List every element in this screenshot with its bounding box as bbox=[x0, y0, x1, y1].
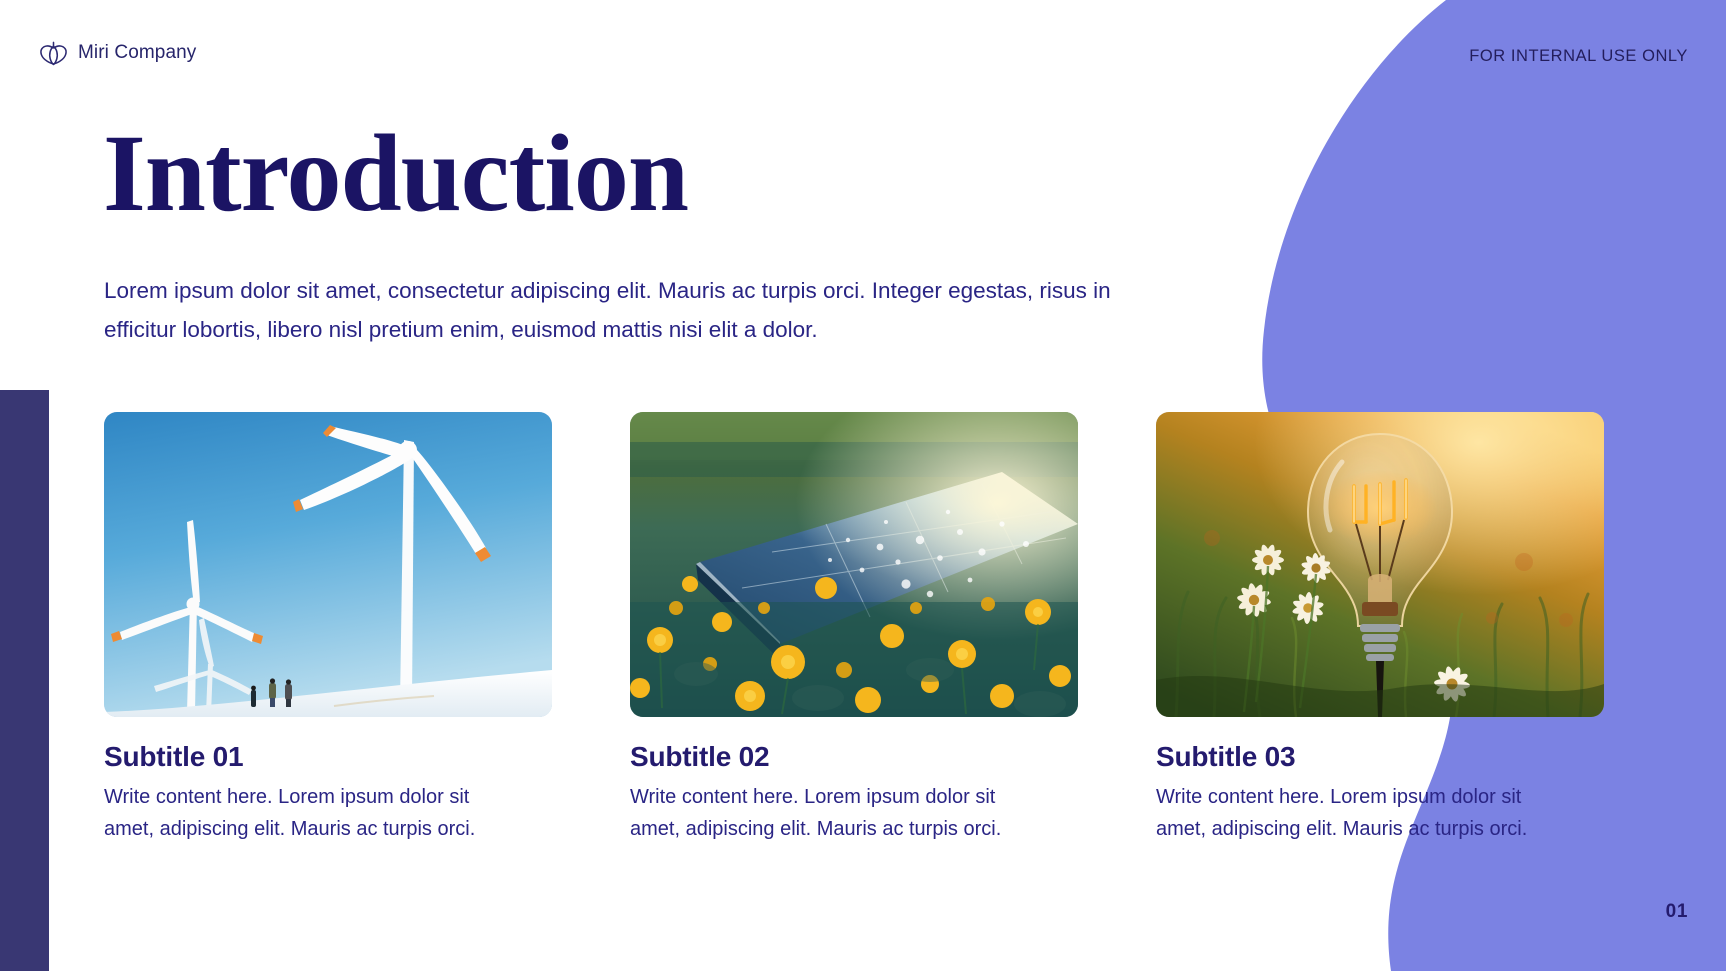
card-title: Subtitle 02 bbox=[630, 741, 1078, 773]
lotus-flower-icon bbox=[38, 38, 69, 68]
page-number: 01 bbox=[1666, 901, 1688, 923]
presentation-slide: Miri Company FOR INTERNAL USE ONLY Intro… bbox=[0, 0, 1726, 971]
brand-name-label: Miri Company bbox=[78, 42, 196, 64]
intro-paragraph: Lorem ipsum dolor sit amet, consectetur … bbox=[104, 272, 1124, 349]
content-card-row: Subtitle 01 Write content here. Lorem ip… bbox=[104, 412, 1624, 845]
content-card[interactable]: Subtitle 03 Write content here. Lorem ip… bbox=[1156, 412, 1604, 845]
content-card[interactable]: Subtitle 02 Write content here. Lorem ip… bbox=[630, 412, 1078, 845]
content-card[interactable]: Subtitle 01 Write content here. Lorem ip… bbox=[104, 412, 552, 845]
card-title: Subtitle 01 bbox=[104, 741, 552, 773]
card-image-light-bulb bbox=[1156, 412, 1604, 717]
left-accent-bar bbox=[0, 390, 49, 971]
card-body-text: Write content here. Lorem ipsum dolor si… bbox=[104, 782, 524, 845]
card-title: Subtitle 03 bbox=[1156, 741, 1604, 773]
card-body-text: Write content here. Lorem ipsum dolor si… bbox=[630, 782, 1050, 845]
card-body-text: Write content here. Lorem ipsum dolor si… bbox=[1156, 782, 1576, 845]
card-image-solar-panel bbox=[630, 412, 1078, 717]
brand-logo[interactable]: Miri Company bbox=[38, 38, 196, 68]
page-title: Introduction bbox=[103, 118, 688, 228]
internal-use-note: FOR INTERNAL USE ONLY bbox=[1469, 47, 1688, 66]
card-image-wind-turbines bbox=[104, 412, 552, 717]
